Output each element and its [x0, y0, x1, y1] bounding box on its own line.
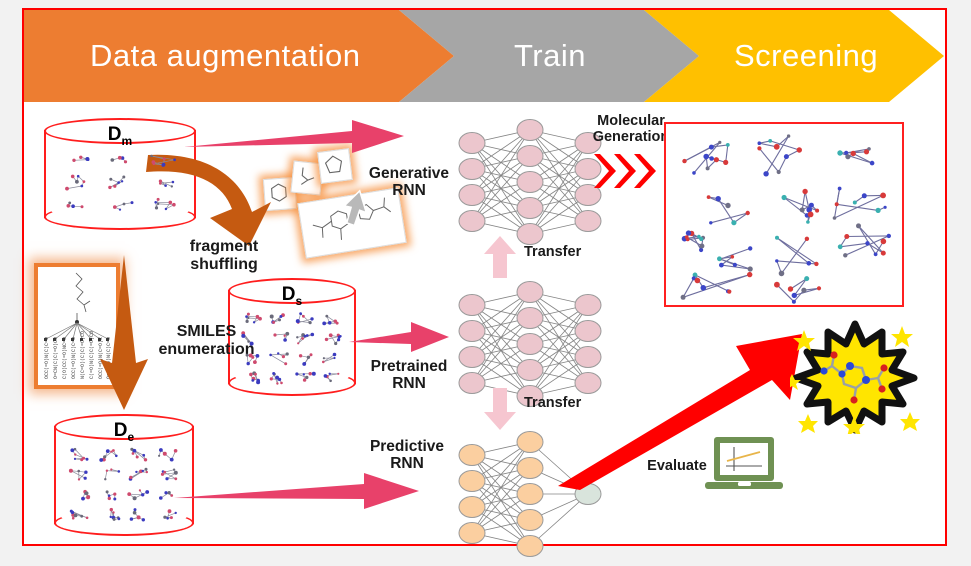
pretrained-rnn-line2: RNN — [354, 375, 464, 392]
molecule-thumbnail — [293, 371, 317, 391]
network-node — [459, 471, 485, 492]
molecule-glyph — [156, 447, 181, 462]
molecule-thumbnail — [148, 152, 178, 174]
dataset-label-text: D — [108, 124, 122, 145]
molecule-thumbnail — [293, 311, 317, 331]
dataset-label-ds: Ds — [228, 284, 356, 308]
molecule-glyph — [62, 152, 92, 169]
banner-stage-augmentation-label: Data augmentation — [90, 38, 360, 74]
dataset-cylinder-de: De — [54, 414, 194, 536]
molecule-glyph — [293, 371, 317, 386]
molecule-glyph — [320, 311, 344, 326]
network-node — [459, 373, 485, 394]
molecule-thumbnail — [126, 447, 151, 467]
molecule-glyph — [293, 331, 317, 346]
molecule-glyph — [67, 467, 92, 482]
arrow-ds-to-pretrained — [349, 320, 449, 354]
molecule-grid — [65, 447, 183, 525]
molecule-thumbnail — [320, 371, 344, 391]
molecule-glyph — [156, 487, 181, 502]
network-node — [517, 308, 543, 329]
network-node — [575, 295, 601, 316]
network-node — [517, 510, 543, 531]
molecule-glyph — [293, 351, 317, 366]
molecule-glyph — [240, 351, 264, 366]
generated-molecule — [836, 220, 898, 269]
svg-text:OCC(=O)N(C)C=O: OCC(=O)N(C)C=O — [71, 337, 77, 379]
arrow-dm-to-generative — [184, 120, 404, 162]
molecule-thumbnail — [293, 331, 317, 351]
molecule-thumbnail — [97, 507, 122, 527]
hit-compound-starburst — [790, 316, 920, 434]
network-node — [517, 458, 543, 479]
laptop-graphic — [703, 435, 785, 497]
molecule-thumbnail — [126, 487, 151, 507]
network-node — [459, 445, 485, 466]
network-node — [459, 211, 485, 232]
dataset-cylinder-ds: Ds — [228, 278, 356, 396]
fragment-shuffling-label: fragment shuffling — [164, 238, 284, 274]
workflow-banner: Data augmentation Train Screening — [24, 10, 944, 102]
molecule-glyph — [240, 371, 264, 386]
molecule-glyph — [320, 351, 344, 366]
generated-molecules-box — [664, 122, 904, 307]
dataset-label-sub: s — [296, 294, 303, 308]
generated-molecule — [762, 186, 824, 233]
chain-fragment-icon — [292, 162, 321, 193]
molecule-glyph — [97, 507, 122, 522]
predictive-rnn-line1: Predictive — [352, 438, 462, 455]
molecule-thumbnail — [148, 196, 178, 218]
molecule-glyph — [148, 196, 178, 213]
arrow-de-to-predictive — [174, 472, 419, 512]
molecule-thumbnail — [320, 331, 344, 351]
network-node — [459, 347, 485, 368]
molecule-thumbnail — [97, 487, 122, 507]
generated-molecule — [832, 142, 888, 183]
molecule-glyph — [126, 467, 151, 482]
molecule-thumbnail — [320, 311, 344, 331]
molecule-glyph — [97, 447, 122, 462]
network-node — [459, 295, 485, 316]
molecule-grid — [56, 152, 184, 218]
network-node — [517, 484, 543, 505]
molecule-glyph — [240, 331, 264, 346]
generated-molecule — [770, 274, 848, 311]
molecule-thumbnail — [105, 152, 135, 174]
molecule-thumbnail — [126, 507, 151, 527]
molecule-thumbnail — [126, 467, 151, 487]
molecule-thumbnail — [105, 174, 135, 196]
molecule-thumbnail — [293, 351, 317, 371]
svg-text:C(=O)N(C)C(=O)CO: C(=O)N(C)C(=O)CO — [89, 331, 95, 379]
fragment-shuffling-line2: shuffling — [164, 256, 284, 274]
dataset-label-dm: Dm — [44, 124, 196, 148]
molecule-thumbnail — [67, 467, 92, 487]
molecule-glyph — [267, 371, 291, 386]
molecule-glyph — [156, 507, 181, 522]
svg-text:N(C=O)(C)C(=O)CO: N(C=O)(C)C(=O)CO — [80, 331, 86, 379]
molecule-glyph — [320, 331, 344, 346]
network-node — [517, 198, 543, 219]
banner-stage-screening-label: Screening — [734, 38, 878, 74]
molecule-thumbnail — [67, 487, 92, 507]
dataset-cylinder-dm: Dm — [44, 118, 196, 230]
molecule-thumbnail — [62, 152, 92, 174]
svg-text:OCC(=O)N(C)C=O: OCC(=O)N(C)C=O — [44, 337, 50, 379]
figure-root: Data augmentation Train Screening Dm Ds — [0, 0, 971, 556]
dataset-label-de: De — [54, 420, 194, 444]
network-node — [517, 282, 543, 303]
dataset-label-text: D — [282, 284, 296, 305]
network-node — [517, 536, 543, 557]
molecule-thumbnail — [240, 371, 264, 391]
molecule-thumbnail — [97, 467, 122, 487]
network-node — [517, 120, 543, 141]
molecule-thumbnail — [320, 351, 344, 371]
network-node — [517, 146, 543, 167]
molecule-thumbnail — [156, 447, 181, 467]
molecule-glyph — [105, 152, 135, 169]
network-node — [459, 159, 485, 180]
molecule-glyph — [67, 447, 92, 462]
molecule-thumbnail — [240, 331, 264, 351]
generated-molecule — [680, 138, 738, 183]
svg-text:O=CN(C)C(=O)CO: O=CN(C)C(=O)CO — [53, 337, 59, 379]
network-node — [517, 432, 543, 453]
svg-text:C(O)CC(=O)NC=O: C(O)CC(=O)NC=O — [62, 337, 68, 379]
network-node — [459, 321, 485, 342]
molecule-thumbnail — [156, 487, 181, 507]
molecule-thumbnail — [267, 371, 291, 391]
molecule-thumbnail — [267, 351, 291, 371]
generative-rnn-label: Generative RNN — [354, 165, 464, 200]
molecule-thumbnail — [67, 507, 92, 527]
molecule-thumbnail — [240, 311, 264, 331]
fragment-shuffling-line1: fragment — [164, 238, 284, 256]
network-node — [459, 497, 485, 518]
molecule-glyph — [97, 487, 122, 502]
molecule-thumbnail — [267, 331, 291, 351]
molecule-glyph — [240, 311, 264, 326]
starburst-graphic — [790, 316, 920, 434]
molecule-glyph — [126, 507, 151, 522]
generated-molecule — [748, 132, 818, 185]
molecule-glyph — [148, 174, 178, 191]
network-node — [517, 334, 543, 355]
network-node — [517, 224, 543, 245]
molecule-thumbnail — [62, 174, 92, 196]
molecule-thumbnail — [148, 174, 178, 196]
molecule-glyph — [267, 351, 291, 366]
molecule-glyph — [126, 487, 151, 502]
molecule-thumbnail — [240, 351, 264, 371]
molecule-thumbnail — [156, 507, 181, 527]
generated-molecule — [674, 228, 708, 259]
molecule-thumbnail — [267, 311, 291, 331]
dataset-label-sub: m — [122, 134, 133, 148]
molecule-grid — [238, 311, 346, 385]
network-node — [517, 360, 543, 381]
banner-stage-train-label: Train — [514, 38, 586, 74]
molecule-glyph — [148, 152, 178, 169]
molecule-thumbnail — [105, 196, 135, 218]
network-node — [575, 211, 601, 232]
pretrained-rnn-line1: Pretrained — [354, 358, 464, 375]
molecule-glyph — [62, 174, 92, 191]
molecule-glyph — [67, 487, 92, 502]
molecule-glyph — [62, 196, 92, 213]
molecule-thumbnail — [67, 447, 92, 467]
molecule-glyph — [293, 311, 317, 326]
generative-rnn-line2: RNN — [354, 182, 464, 199]
dataset-label-text: D — [114, 420, 128, 441]
pretrained-rnn-label: Pretrained RNN — [354, 358, 464, 393]
network-node — [459, 523, 485, 544]
molecule-thumbnail — [62, 196, 92, 218]
molecule-glyph — [126, 447, 151, 462]
molecule-thumbnail — [156, 467, 181, 487]
network-node — [517, 172, 543, 193]
transfer-up-label: Transfer — [524, 244, 610, 260]
molecule-thumbnail — [97, 447, 122, 467]
banner-stage-augmentation[interactable]: Data augmentation — [24, 10, 454, 102]
generative-rnn-line1: Generative — [354, 165, 464, 182]
molecule-glyph — [97, 467, 122, 482]
figure-frame: Data augmentation Train Screening Dm Ds — [22, 8, 947, 546]
predictive-rnn-line2: RNN — [352, 455, 462, 472]
predictive-rnn-label: Predictive RNN — [352, 438, 462, 473]
molecule-glyph — [267, 331, 291, 346]
molecular-generation-chevrons — [592, 152, 672, 190]
generated-molecule — [676, 270, 756, 309]
molecule-glyph — [320, 371, 344, 386]
network-node — [459, 185, 485, 206]
network-node — [459, 133, 485, 154]
laptop-icon — [703, 435, 785, 497]
molecule-glyph — [105, 174, 135, 191]
dataset-label-sub: e — [128, 430, 135, 444]
molecule-glyph — [105, 196, 135, 213]
molecule-glyph — [267, 311, 291, 326]
molecule-glyph — [156, 467, 181, 482]
molecule-glyph — [67, 507, 92, 522]
